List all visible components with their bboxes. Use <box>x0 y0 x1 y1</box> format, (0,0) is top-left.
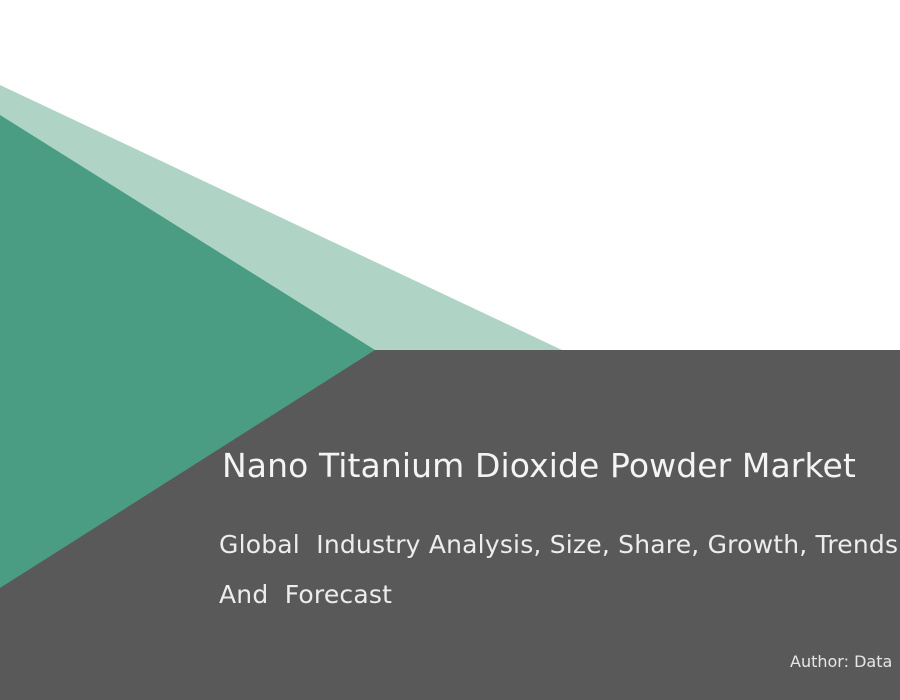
subtitle-line-2: And Forecast <box>219 570 900 620</box>
title-block: Nano Titanium Dioxide Powder Market <box>222 446 900 486</box>
subtitle-line-1: Global Industry Analysis, Size, Share, G… <box>219 520 900 570</box>
author-credit: Author: Data <box>790 652 892 671</box>
report-cover-slide: Nano Titanium Dioxide Powder Market Glob… <box>0 0 900 700</box>
light-green-wedge <box>0 85 562 350</box>
subtitle-block: Global Industry Analysis, Size, Share, G… <box>219 520 900 620</box>
dark-green-wedge <box>0 115 375 588</box>
page-title: Nano Titanium Dioxide Powder Market <box>222 446 900 486</box>
